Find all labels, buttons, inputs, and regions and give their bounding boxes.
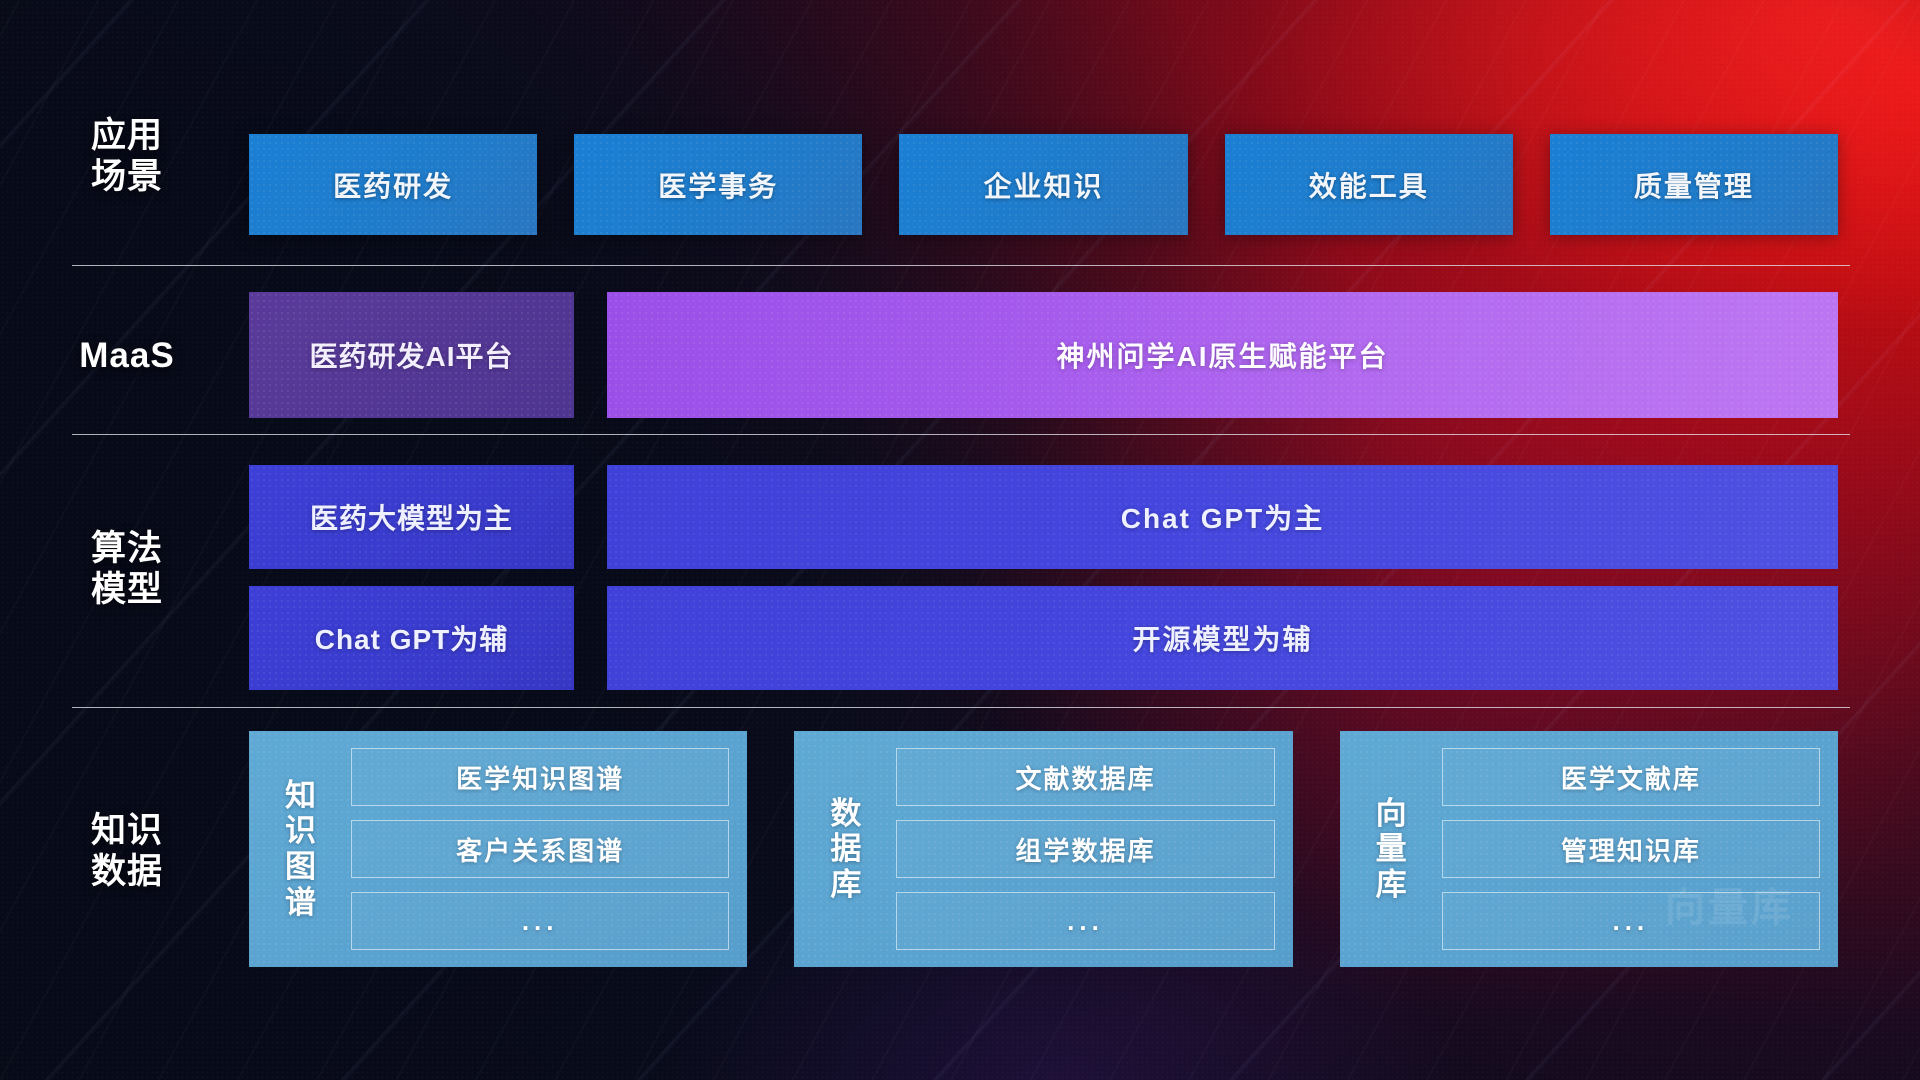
algorithm-left-label: 医药大模型为主: [310, 497, 513, 537]
maas-platform-box[interactable]: 医药研发AI平台: [249, 292, 574, 418]
knowledge-item-more[interactable]: ...: [896, 892, 1274, 950]
knowledge-item[interactable]: 管理知识库: [1442, 820, 1820, 878]
application-box-0[interactable]: 医药研发: [249, 134, 537, 235]
knowledge-panel-knowledge-graph[interactable]: 知 识 图 谱 医学知识图谱 客户关系图谱 ...: [249, 731, 747, 967]
algorithm-right-label: 开源模型为辅: [1132, 618, 1312, 658]
divider-algorithm-knowledge: [72, 707, 1850, 708]
algorithm-right-box-0[interactable]: Chat GPT为主: [607, 465, 1838, 569]
knowledge-panel-items: 医学文献库 管理知识库 ...: [1430, 748, 1820, 950]
maas-row: 医药研发AI平台 神州问学AI原生赋能平台: [249, 292, 1838, 418]
maas-platform-label: 医药研发AI平台: [309, 335, 513, 375]
application-box-1[interactable]: 医学事务: [574, 134, 862, 235]
knowledge-panel-items: 文献数据库 组学数据库 ...: [884, 748, 1274, 950]
knowledge-row: 知 识 图 谱 医学知识图谱 客户关系图谱 ... 数 据 库 文献数据库 组学…: [249, 731, 1838, 967]
knowledge-panel-vertical-label: 数 据 库: [808, 796, 884, 903]
algorithm-left-box-0[interactable]: 医药大模型为主: [249, 465, 574, 569]
application-box-2[interactable]: 企业知识: [899, 134, 1187, 235]
application-box-4[interactable]: 质量管理: [1550, 134, 1838, 235]
knowledge-panel-items: 医学知识图谱 客户关系图谱 ...: [339, 748, 729, 950]
algorithm-right-box-1[interactable]: 开源模型为辅: [607, 586, 1838, 690]
knowledge-item[interactable]: 医学知识图谱: [351, 748, 729, 806]
maas-enable-platform-label: 神州问学AI原生赋能平台: [1056, 335, 1388, 375]
knowledge-item[interactable]: 组学数据库: [896, 820, 1274, 878]
algorithm-left-box-1[interactable]: Chat GPT为辅: [249, 586, 574, 690]
divider-application-maas: [72, 265, 1850, 266]
algorithm-left-label: Chat GPT为辅: [315, 618, 509, 658]
row-label-maas: MaaS: [42, 335, 212, 376]
knowledge-panel-vector-store[interactable]: 向 量 库 医学文献库 管理知识库 ... 向量库: [1340, 731, 1838, 967]
algorithm-row-primary: 医药大模型为主 Chat GPT为主: [249, 465, 1838, 569]
application-box-label: 质量管理: [1634, 165, 1754, 205]
application-box-3[interactable]: 效能工具: [1225, 134, 1513, 235]
algorithm-row-secondary: Chat GPT为辅 开源模型为辅: [249, 586, 1838, 690]
row-label-knowledge: 知识 数据: [42, 810, 212, 893]
knowledge-panel-vertical-label: 知 识 图 谱: [263, 778, 339, 921]
application-row: 医药研发 医学事务 企业知识 效能工具 质量管理: [249, 134, 1838, 235]
diagram-canvas: 应用 场景 医药研发 医学事务 企业知识 效能工具 质量管理 MaaS 医药研发…: [0, 0, 1920, 1080]
maas-enable-platform-box[interactable]: 神州问学AI原生赋能平台: [607, 292, 1838, 418]
knowledge-item-more[interactable]: ...: [1442, 892, 1820, 950]
knowledge-item[interactable]: 客户关系图谱: [351, 820, 729, 878]
row-label-application: 应用 场景: [42, 115, 212, 198]
knowledge-panel-vertical-label: 向 量 库: [1354, 796, 1430, 903]
knowledge-panel-database[interactable]: 数 据 库 文献数据库 组学数据库 ...: [794, 731, 1292, 967]
application-box-label: 医药研发: [333, 165, 453, 205]
application-box-label: 医学事务: [658, 165, 778, 205]
application-box-label: 企业知识: [984, 165, 1104, 205]
knowledge-item[interactable]: 医学文献库: [1442, 748, 1820, 806]
divider-maas-algorithm: [72, 434, 1850, 435]
knowledge-item-more[interactable]: ...: [351, 892, 729, 950]
row-label-algorithm: 算法 模型: [42, 528, 212, 611]
knowledge-item[interactable]: 文献数据库: [896, 748, 1274, 806]
application-box-label: 效能工具: [1309, 165, 1429, 205]
algorithm-right-label: Chat GPT为主: [1121, 497, 1325, 537]
